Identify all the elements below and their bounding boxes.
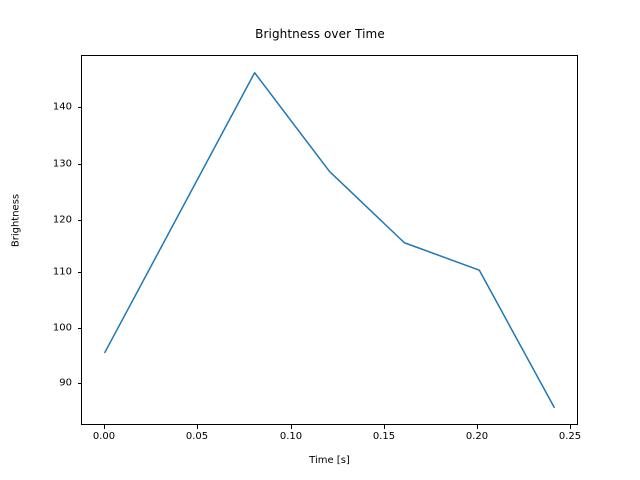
xtick-mark-010	[291, 425, 292, 429]
xtick-mark-025	[570, 425, 571, 429]
ytick-label-100: 100	[22, 323, 72, 334]
ytick-label-120: 120	[22, 215, 72, 226]
brightness-line-series	[105, 73, 554, 408]
xtick-label-000: 0.00	[93, 431, 115, 442]
xtick-mark-005	[197, 425, 198, 429]
xtick-label-015: 0.15	[373, 431, 395, 442]
xtick-label-025: 0.25	[559, 431, 581, 442]
ytick-label-90: 90	[22, 378, 72, 389]
ytick-label-140: 140	[22, 102, 72, 113]
ytick-label-130: 130	[22, 159, 72, 170]
ytick-mark-90	[78, 383, 82, 384]
y-axis-label: Brightness	[11, 171, 22, 271]
xtick-label-005: 0.05	[186, 431, 208, 442]
xtick-mark-020	[477, 425, 478, 429]
chart-title: Brightness over Time	[0, 27, 640, 41]
x-axis-label: Time [s]	[81, 455, 578, 466]
ytick-mark-140	[78, 107, 82, 108]
xtick-label-010: 0.10	[280, 431, 302, 442]
line-series-svg	[82, 56, 577, 424]
ytick-mark-120	[78, 220, 82, 221]
ytick-mark-130	[78, 164, 82, 165]
ytick-mark-100	[78, 328, 82, 329]
xtick-label-020: 0.20	[466, 431, 488, 442]
xtick-mark-015	[384, 425, 385, 429]
ytick-mark-110	[78, 272, 82, 273]
ytick-label-110: 110	[22, 267, 72, 278]
plot-axes-area	[81, 55, 578, 425]
matplotlib-figure: Brightness over Time 140 130 120 110 100…	[0, 0, 640, 480]
xtick-mark-000	[104, 425, 105, 429]
